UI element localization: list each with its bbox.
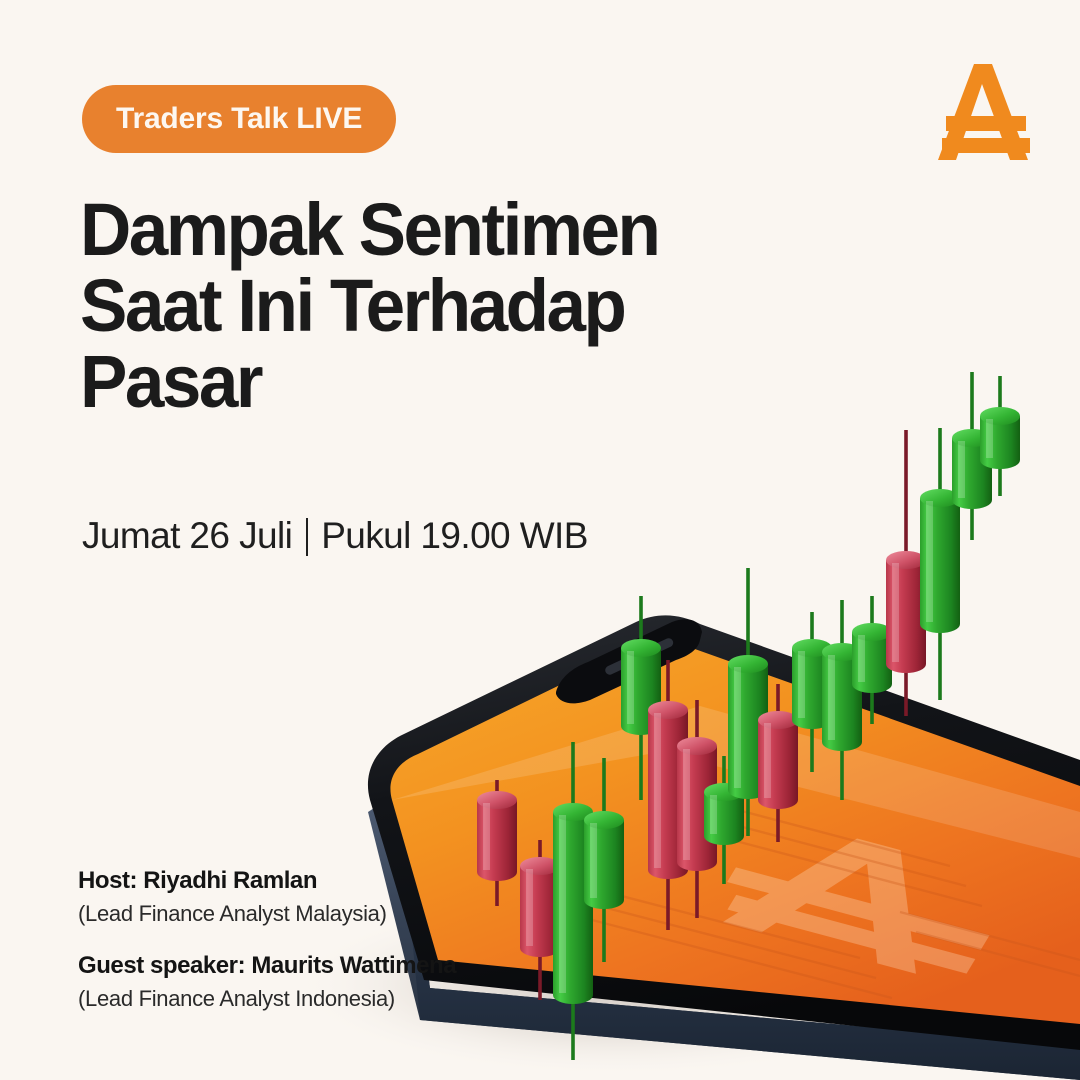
event-datetime: Jumat 26 Juli Pukul 19.00 WIB — [82, 515, 588, 557]
guest-role: (Lead Finance Analyst Indonesia) — [78, 985, 598, 1014]
host-credit: Host: Riyadhi Ramlan (Lead Finance Analy… — [78, 866, 598, 928]
event-date: Jumat 26 Juli — [82, 515, 292, 557]
live-badge[interactable]: Traders Talk LIVE — [82, 85, 396, 153]
poster-canvas: Traders Talk LIVE Dampak Sentimen Saat I… — [0, 0, 1080, 1080]
guest-name: Guest speaker: Maurits Wattimena — [78, 951, 598, 982]
host-name: Host: Riyadhi Ramlan — [78, 866, 598, 897]
live-badge-label: Traders Talk LIVE — [116, 102, 362, 136]
guest-credit: Guest speaker: Maurits Wattimena (Lead F… — [78, 951, 598, 1013]
headline-line-1: Dampak Sentimen — [80, 192, 771, 268]
headline-line-3: Pasar — [80, 344, 771, 420]
page-title: Dampak Sentimen Saat Ini Terhadap Pasar — [80, 192, 800, 421]
datetime-separator — [306, 518, 308, 556]
headline-line-2: Saat Ini Terhadap — [80, 268, 771, 344]
letter-a-logo — [930, 60, 1036, 164]
event-time: Pukul 19.00 WIB — [321, 515, 588, 557]
credits-block: Host: Riyadhi Ramlan (Lead Finance Analy… — [78, 866, 598, 1037]
host-role: (Lead Finance Analyst Malaysia) — [78, 900, 598, 929]
